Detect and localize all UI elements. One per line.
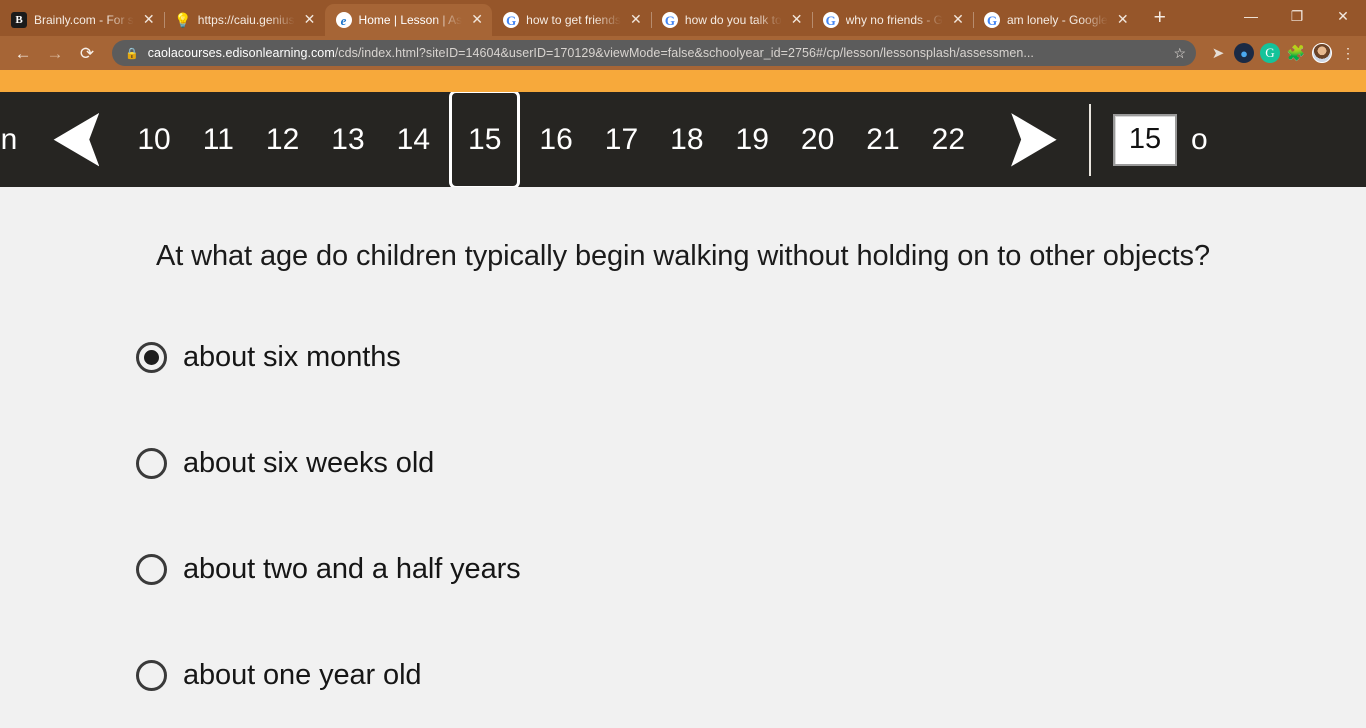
page-number-14[interactable]: 14	[381, 125, 446, 155]
tab-strip: B Brainly.com - For s ✕ 💡 https://caiu.g…	[0, 0, 1366, 36]
tab-separator	[164, 12, 165, 28]
address-bar-url: caolacourses.edisonlearning.com/cds/inde…	[148, 46, 1166, 60]
tab-separator	[651, 12, 652, 28]
answer-option-label: about six weeks old	[183, 447, 434, 480]
forward-icon[interactable]: →	[40, 39, 70, 67]
tab-title: how to get friends	[526, 13, 621, 27]
lesson-page-navigation: on 10 11 12 13 14 15 16 17 18 19 20 21 2…	[0, 92, 1366, 187]
close-icon[interactable]: ✕	[628, 12, 644, 28]
page-number-10[interactable]: 10	[121, 125, 186, 155]
blue-circle-extension-icon[interactable]: ●	[1234, 43, 1254, 63]
assessment-content: At what age do children typically begin …	[0, 187, 1366, 669]
browser-window: B Brainly.com - For s ✕ 💡 https://caiu.g…	[0, 0, 1366, 728]
url-path: /cds/index.html?siteID=14604&userID=1701…	[335, 46, 1034, 60]
chrome-menu-icon[interactable]: ⋮	[1338, 43, 1358, 63]
answer-option-2[interactable]: about six weeks old	[136, 438, 1366, 488]
browser-tab-brainly[interactable]: B Brainly.com - For s ✕	[0, 4, 164, 36]
profile-avatar-icon[interactable]	[1312, 43, 1332, 63]
minimize-icon[interactable]: —	[1228, 0, 1274, 32]
close-icon[interactable]: ✕	[469, 12, 485, 28]
brainly-icon: B	[11, 12, 27, 28]
orange-accent-strip	[0, 70, 1366, 92]
answer-option-1[interactable]: about six months	[136, 332, 1366, 382]
google-icon: G	[503, 12, 519, 28]
lock-icon: 🔒	[125, 47, 139, 60]
browser-tab-home-lesson[interactable]: e Home | Lesson | As ✕	[325, 4, 493, 36]
puzzle-extensions-icon[interactable]: 🧩	[1286, 43, 1306, 63]
page-of-label: o	[1191, 123, 1208, 157]
browser-tab-how-to-get-friends[interactable]: G how to get friends ✕	[492, 4, 651, 36]
google-icon: G	[662, 12, 678, 28]
previous-page-arrow-icon[interactable]	[53, 113, 99, 167]
question-text: At what age do children typically begin …	[0, 187, 1366, 273]
page-number-22[interactable]: 22	[916, 125, 981, 155]
tab-separator	[812, 12, 813, 28]
url-host: caolacourses.edisonlearning.com	[148, 46, 335, 60]
bookmark-star-icon[interactable]: ☆	[1173, 45, 1186, 62]
nav-left-word: on	[0, 123, 27, 157]
radio-button-icon[interactable]	[136, 554, 167, 585]
page-number-11[interactable]: 11	[187, 125, 250, 155]
radio-button-icon[interactable]	[136, 660, 167, 691]
close-window-icon[interactable]: ✕	[1320, 0, 1366, 32]
page-number-18[interactable]: 18	[654, 125, 719, 155]
page-number-20[interactable]: 20	[785, 125, 850, 155]
page-number-15-current[interactable]: 15	[449, 92, 520, 187]
reload-icon[interactable]: ⟳	[72, 39, 102, 67]
address-bar[interactable]: 🔒 caolacourses.edisonlearning.com/cds/in…	[112, 40, 1196, 66]
page-number-17[interactable]: 17	[589, 125, 654, 155]
close-icon[interactable]: ✕	[302, 12, 318, 28]
lightbulb-icon: 💡	[175, 12, 191, 28]
extensions-area: ➤ ● G 🧩 ⋮	[1204, 43, 1358, 63]
close-icon[interactable]: ✕	[950, 12, 966, 28]
google-icon: G	[823, 12, 839, 28]
new-tab-button[interactable]: +	[1146, 5, 1174, 33]
page-number-21[interactable]: 21	[850, 125, 915, 155]
close-icon[interactable]: ✕	[1115, 12, 1131, 28]
page-number-12[interactable]: 12	[250, 125, 315, 155]
edison-icon: e	[336, 12, 352, 28]
answer-option-4[interactable]: about one year old	[136, 650, 1366, 700]
tab-title: Brainly.com - For s	[34, 13, 134, 27]
page-number-19[interactable]: 19	[720, 125, 785, 155]
answer-option-label: about six months	[183, 341, 401, 374]
grammarly-extension-icon[interactable]: G	[1260, 43, 1280, 63]
tab-separator	[973, 12, 974, 28]
close-icon[interactable]: ✕	[141, 12, 157, 28]
browser-tab-am-lonely[interactable]: G am lonely - Google ✕	[973, 4, 1138, 36]
window-controls: — ❐ ✕	[1228, 0, 1366, 36]
browser-tab-caiu-genius[interactable]: 💡 https://caiu.genius ✕	[164, 4, 325, 36]
answer-option-label: about one year old	[183, 659, 421, 692]
back-icon[interactable]: ←	[8, 39, 38, 67]
next-page-arrow-icon[interactable]	[1011, 113, 1057, 167]
maximize-icon[interactable]: ❐	[1274, 0, 1320, 32]
browser-tab-how-do-you-talk-to[interactable]: G how do you talk to ✕	[651, 4, 812, 36]
browser-tab-why-no-friends[interactable]: G why no friends - G ✕	[812, 4, 973, 36]
nav-divider	[1089, 104, 1091, 176]
tab-title: how do you talk to	[685, 13, 782, 27]
cursor-extension-icon[interactable]: ➤	[1208, 43, 1228, 63]
page-number-input[interactable]: 15	[1113, 114, 1177, 166]
tab-title: why no friends - G	[846, 13, 943, 27]
radio-button-selected-icon[interactable]	[136, 342, 167, 373]
tab-title: am lonely - Google	[1007, 13, 1108, 27]
tab-title: Home | Lesson | As	[359, 13, 463, 27]
radio-button-icon[interactable]	[136, 448, 167, 479]
google-icon: G	[984, 12, 1000, 28]
page-number-13[interactable]: 13	[315, 125, 380, 155]
answer-option-3[interactable]: about two and a half years	[136, 544, 1366, 594]
answer-option-label: about two and a half years	[183, 553, 521, 586]
page-number-16[interactable]: 16	[523, 125, 588, 155]
browser-toolbar: ← → ⟳ 🔒 caolacourses.edisonlearning.com/…	[0, 36, 1366, 70]
answer-options-list: about six months about six weeks old abo…	[0, 332, 1366, 700]
close-icon[interactable]: ✕	[789, 12, 805, 28]
tab-title: https://caiu.genius	[198, 13, 295, 27]
